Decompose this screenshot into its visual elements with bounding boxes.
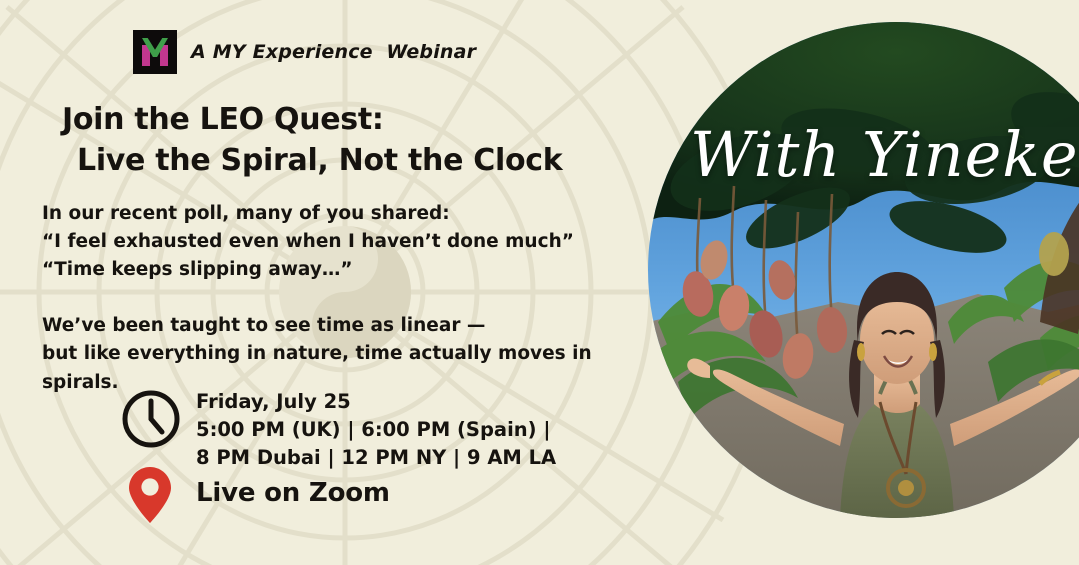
event-platform: Live on Zoom: [196, 478, 390, 508]
event-date: Friday, July 25: [196, 388, 556, 416]
statement-line-1: We’ve been taught to see time as linear …: [42, 312, 660, 340]
event-times-line-2: 8 PM Dubai | 12 PM NY | 9 AM LA: [196, 444, 556, 472]
map-pin-icon: [128, 466, 172, 524]
poll-intro-text: In our recent poll, many of you shared:: [42, 200, 660, 228]
presenter-name-overlay: With Yineke: [690, 118, 1060, 191]
left-content-column: A MY Experience Webinar Join the LEO Que…: [0, 0, 660, 565]
brand-tagline: A MY Experience Webinar: [191, 41, 476, 63]
event-times-line-1: 5:00 PM (UK) | 6:00 PM (Spain) |: [196, 416, 556, 444]
headline-line-1: Join the LEO Quest:: [62, 102, 384, 137]
clock-icon: [120, 388, 182, 450]
body-copy: In our recent poll, many of you shared: …: [42, 200, 660, 397]
brand-row: A MY Experience Webinar: [133, 30, 476, 74]
headline-line-2: Live the Spiral, Not the Clock: [62, 141, 562, 182]
poll-quote-1: “I feel exhausted even when I haven’t do…: [42, 228, 660, 256]
event-datetime: Friday, July 25 5:00 PM (UK) | 6:00 PM (…: [196, 388, 556, 472]
page-title: Join the LEO Quest: Live the Spiral, Not…: [62, 100, 562, 182]
poll-quote-2: “Time keeps slipping away…”: [42, 256, 660, 284]
my-experience-logo: [133, 30, 177, 74]
webinar-promo-poster: A MY Experience Webinar Join the LEO Que…: [0, 0, 1079, 565]
paragraph-spacer: [42, 284, 660, 312]
presenter-photo: [648, 22, 1079, 518]
